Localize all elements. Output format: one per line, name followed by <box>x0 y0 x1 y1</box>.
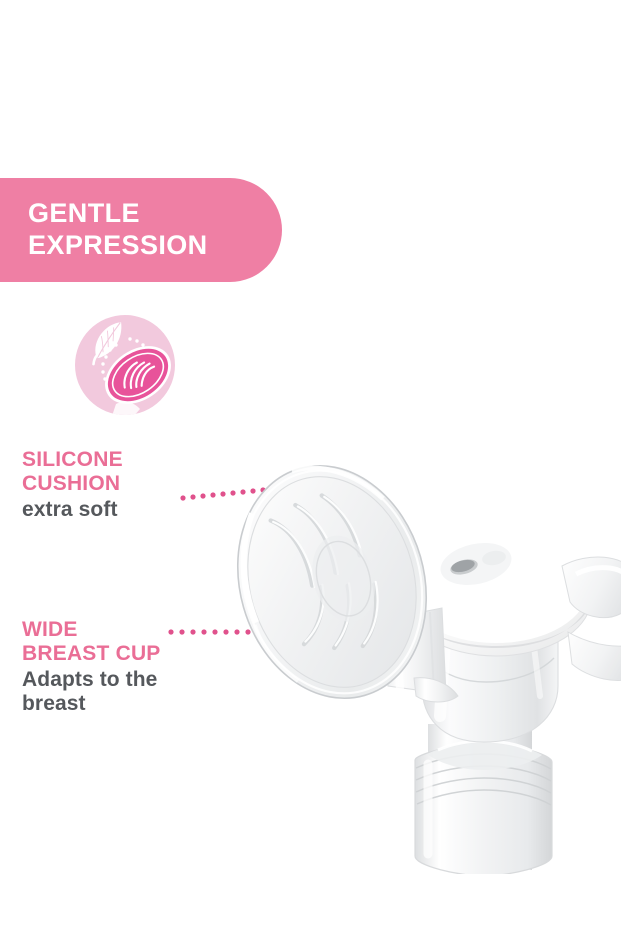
callout-subtitle-line-2: breast <box>22 692 86 715</box>
callout-title-line-2: CUSHION <box>22 472 120 495</box>
callout-title-line-1: SILICONE <box>22 448 123 471</box>
bottle-neck <box>415 724 552 874</box>
product-feature-card: GENTLE EXPRESSION <box>0 0 621 931</box>
soft-cushion-feather-icon <box>72 312 178 418</box>
callout-title-line-1: WIDE <box>22 618 78 641</box>
banner-line-2: EXPRESSION <box>28 230 282 262</box>
manual-breast-pump-photo <box>232 424 621 874</box>
gentle-expression-banner: GENTLE EXPRESSION <box>0 178 282 282</box>
callout-title-line-2: BREAST CUP <box>22 642 161 665</box>
callout-subtitle-line-1: Adapts to the <box>22 668 157 691</box>
banner-line-1: GENTLE <box>28 198 282 230</box>
callout-subtitle: Adapts to the breast <box>22 668 237 717</box>
